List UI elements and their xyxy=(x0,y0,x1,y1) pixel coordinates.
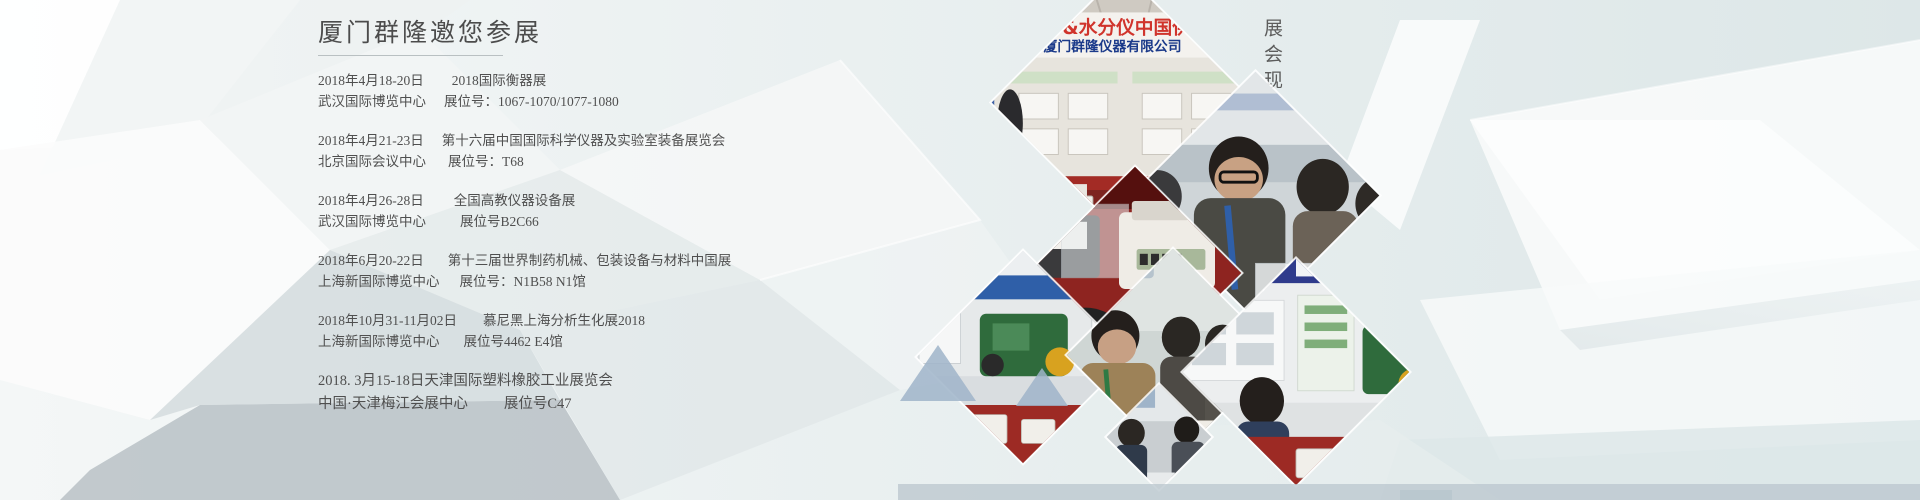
event-line-secondary: 武汉国际博览中心展位号：1067-1070/1077-1080 xyxy=(318,91,1078,112)
title-underline xyxy=(318,55,503,56)
event-venue: 北京国际会议中心 xyxy=(318,151,426,172)
event-booth: 展位号4462 E4馆 xyxy=(464,334,563,349)
event-date: 2018. 3月15-18日天津国际塑料橡胶工业展览会 xyxy=(318,370,613,393)
page-title: 厦门群隆邀您参展 xyxy=(318,18,1078,49)
event-name: 慕尼黑上海分析生化展2018 xyxy=(483,313,645,328)
event-date: 2018年4月21-23日 xyxy=(318,130,424,151)
accent-triangle-left xyxy=(900,345,976,401)
bottom-bar-accent xyxy=(1400,490,1452,500)
event-booth: 展位号：1067-1070/1077-1080 xyxy=(444,94,619,109)
event-booth: 展位号：T68 xyxy=(448,154,524,169)
event-item: 2018年4月26-28日全国高教仪器设备展 武汉国际博览中心展位号B2C66 xyxy=(318,190,1078,232)
event-name: 第十六届中国国际科学仪器及实验室装备展览会 xyxy=(442,133,726,148)
event-line-primary: 2018年4月18-20日2018国际衡器展 xyxy=(318,70,1078,91)
svg-text:厦门群隆仪器有限公司: 厦门群隆仪器有限公司 xyxy=(1044,37,1182,54)
event-date: 2018年6月20-22日 xyxy=(318,250,424,271)
event-list-panel: 厦门群隆邀您参展 2018年4月18-20日2018国际衡器展 武汉国际博览中心… xyxy=(318,18,1078,488)
event-line-primary: 2018年4月26-28日全国高教仪器设备展 xyxy=(318,190,1078,211)
event-line-primary: 2018年6月20-22日第十三届世界制药机械、包装设备与材料中国展 xyxy=(318,250,1078,271)
event-item: 2018年4月21-23日第十六届中国国际科学仪器及实验室装备展览会 北京国际会… xyxy=(318,130,1078,172)
event-name: 第十三届世界制药机械、包装设备与材料中国展 xyxy=(448,253,732,268)
event-item: 2018年6月20-22日第十三届世界制药机械、包装设备与材料中国展 上海新国际… xyxy=(318,250,1078,292)
svg-text:密度计&水分仪中国供应: 密度计&水分仪中国供应 xyxy=(1006,16,1210,38)
photo-collage: 密度计&水分仪中国供应 厦门群隆仪器有限公司 xyxy=(1020,0,1440,500)
exhibition-banner: 厦门群隆邀您参展 2018年4月18-20日2018国际衡器展 武汉国际博览中心… xyxy=(0,0,1920,500)
event-name: 2018国际衡器展 xyxy=(452,73,547,88)
event-venue: 武汉国际博览中心 xyxy=(318,91,426,112)
event-name: 全国高教仪器设备展 xyxy=(454,193,576,208)
event-date: 2018年4月26-28日 xyxy=(318,190,424,211)
event-date: 2018年4月18-20日 xyxy=(318,70,424,91)
event-venue: 中国·天津梅江会展中心 xyxy=(318,393,468,416)
event-line-secondary: 北京国际会议中心展位号：T68 xyxy=(318,151,1078,172)
event-line-secondary: 武汉国际博览中心展位号B2C66 xyxy=(318,211,1078,232)
event-booth: 展位号C47 xyxy=(504,396,572,412)
event-venue: 上海新国际博览中心 xyxy=(318,331,440,352)
event-item: 2018年4月18-20日2018国际衡器展 武汉国际博览中心展位号：1067-… xyxy=(318,70,1078,112)
accent-triangle-right xyxy=(1016,368,1068,406)
event-venue: 上海新国际博览中心 xyxy=(318,271,440,292)
event-booth: 展位号B2C66 xyxy=(460,214,539,229)
event-date: 2018年10月31-11月02日 xyxy=(318,310,457,331)
event-booth: 展位号：N1B58 N1馆 xyxy=(460,274,586,289)
event-line-secondary: 上海新国际博览中心展位号：N1B58 N1馆 xyxy=(318,271,1078,292)
event-venue: 武汉国际博览中心 xyxy=(318,211,426,232)
event-line-primary: 2018年4月21-23日第十六届中国国际科学仪器及实验室装备展览会 xyxy=(318,130,1078,151)
